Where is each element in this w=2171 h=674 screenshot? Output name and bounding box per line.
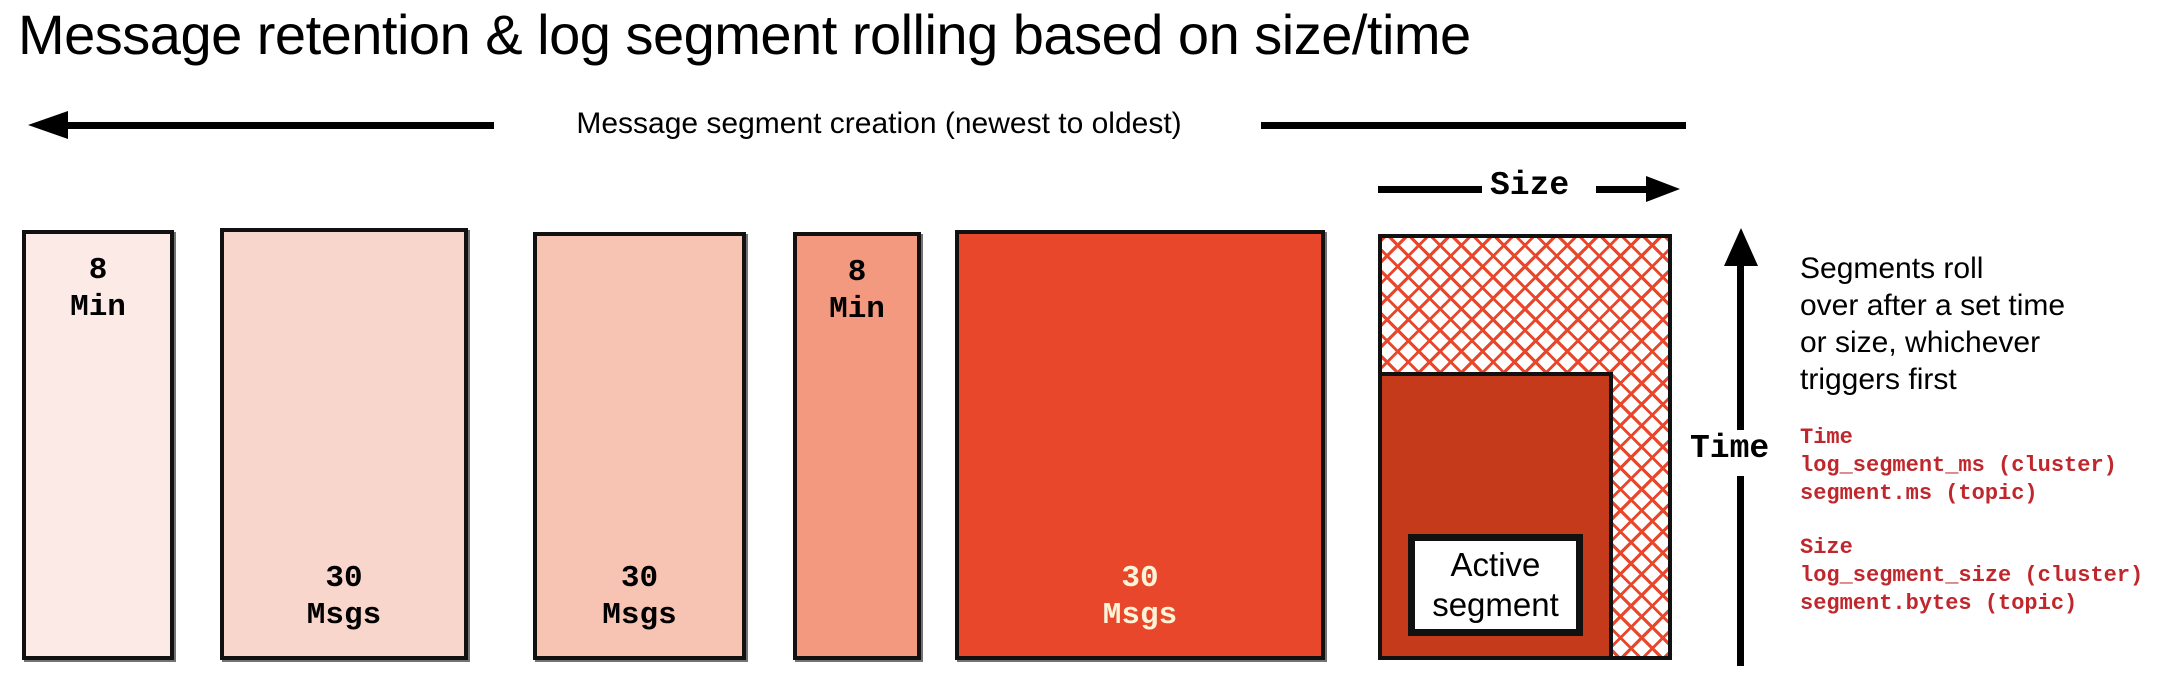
segment-bar-3[interactable]: 30 Msgs — [533, 232, 746, 660]
size-axis: Size — [1378, 168, 1678, 210]
time-axis-line-upper — [1737, 262, 1744, 430]
creation-axis-label: Message segment creation (newest to olde… — [504, 106, 1254, 142]
active-segment-label: Active segment — [1432, 545, 1559, 625]
size-config-block: Size log_segment_size (cluster) segment.… — [1800, 534, 2171, 618]
time-config-block: Time log_segment_ms (cluster) segment.ms… — [1800, 424, 2171, 508]
segment-bar-5[interactable]: 30 Msgs — [955, 230, 1325, 660]
segment-bar-2-label: 30 Msgs — [224, 560, 464, 634]
segment-bar-3-label: 30 Msgs — [537, 560, 742, 634]
diagram-canvas: Message retention & log segment rolling … — [0, 0, 2171, 674]
size-axis-label: Size — [1490, 165, 1569, 207]
notes-body: Segments roll over after a set time or s… — [1800, 250, 2171, 398]
segment-bar-1[interactable]: 8 Min — [22, 230, 174, 660]
notes-panel: Segments roll over after a set time or s… — [1800, 250, 2171, 618]
segment-bar-4[interactable]: 8 Min — [793, 232, 921, 660]
size-axis-line-left — [1378, 186, 1482, 193]
segment-bar-2[interactable]: 30 Msgs — [220, 228, 468, 660]
arrow-up-icon — [1724, 228, 1758, 266]
creation-axis: Message segment creation (newest to olde… — [18, 104, 1698, 144]
arrow-right-icon — [1646, 176, 1680, 202]
time-axis-label: Time — [1690, 428, 1769, 470]
segment-bar-5-label: 30 Msgs — [959, 560, 1321, 634]
axis-line-left — [64, 122, 494, 129]
axis-line-right — [1261, 122, 1686, 129]
segment-bar-4-label: 8 Min — [797, 254, 917, 328]
page-title: Message retention & log segment rolling … — [18, 4, 1471, 66]
arrow-left-icon — [28, 111, 68, 139]
active-segment-label-box[interactable]: Active segment — [1408, 534, 1583, 636]
time-axis-line-lower — [1737, 476, 1744, 666]
segment-bar-1-label: 8 Min — [26, 252, 170, 326]
